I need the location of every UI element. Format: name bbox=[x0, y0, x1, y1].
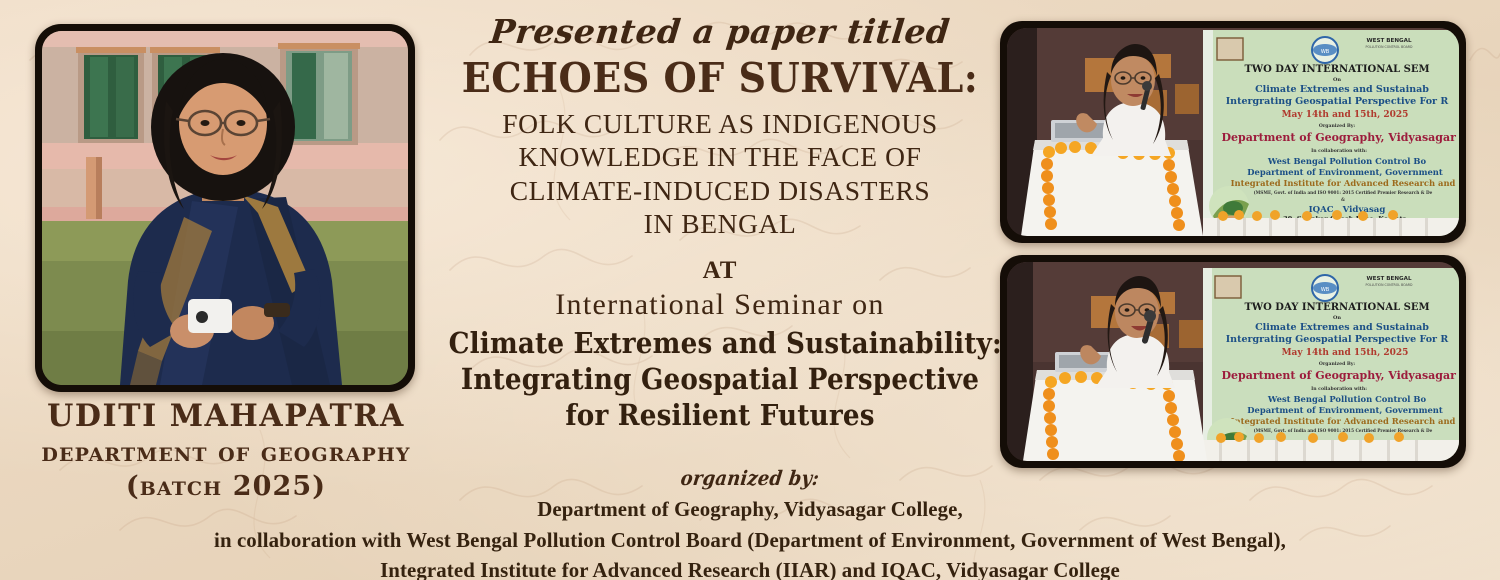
svg-text:WB: WB bbox=[1321, 287, 1330, 293]
organizer-footer: organized by: Department of Geography, V… bbox=[0, 466, 1500, 580]
svg-text:Integrated Institute for Advan: Integrated Institute for Advanced Resear… bbox=[1231, 416, 1456, 426]
podium-photo-bottom: WB WEST BENGAL POLLUTION CONTROL BOARD T… bbox=[1000, 255, 1466, 468]
svg-text:On: On bbox=[1333, 315, 1341, 321]
center-text-column: Presented a paper titled ECHOES OF SURVI… bbox=[425, 14, 1015, 433]
svg-text:Climate Extremes and Sustainab: Climate Extremes and Sustainab bbox=[1255, 322, 1429, 333]
svg-text:West Bengal Pollution Control: West Bengal Pollution Control Bo bbox=[1267, 394, 1427, 404]
svg-text:WEST BENGAL: WEST BENGAL bbox=[1366, 276, 1411, 282]
svg-text:On: On bbox=[1333, 77, 1341, 83]
svg-text:WB: WB bbox=[1321, 49, 1330, 55]
presenter-portrait-photo bbox=[35, 24, 415, 392]
svg-text:Intergrating Geospatial Perspe: Intergrating Geospatial Perspective For … bbox=[1226, 96, 1449, 107]
podium-photo-top: WB WEST BENGAL POLLUTION CONTROL BOARD T… bbox=[1000, 21, 1466, 243]
svg-text:WEST BENGAL: WEST BENGAL bbox=[1366, 38, 1411, 44]
svg-text:Integrated Institute for Advan: Integrated Institute for Advanced Resear… bbox=[1231, 178, 1456, 188]
svg-text:Department of Environment, Gov: Department of Environment, Government bbox=[1247, 405, 1443, 415]
svg-text:In collaboration with:: In collaboration with: bbox=[1311, 386, 1367, 392]
organizer-line-3: Integrated Institute for Advanced Resear… bbox=[23, 555, 1478, 580]
podium-bottom-image: WB WEST BENGAL POLLUTION CONTROL BOARD T… bbox=[1007, 262, 1459, 461]
svg-text:Department of Geography, Vidya: Department of Geography, Vidyasagar C bbox=[1222, 369, 1459, 382]
svg-text:Department of Geography, Vidya: Department of Geography, Vidyasagar C bbox=[1222, 131, 1459, 144]
event-name-line-2: Integrating Geospatial Perspective bbox=[449, 362, 992, 398]
organized-by-label: organized by: bbox=[74, 466, 1427, 490]
svg-text:May 14th and 15th, 2025: May 14th and 15th, 2025 bbox=[1282, 348, 1409, 358]
svg-text:Organized By:: Organized By: bbox=[1319, 361, 1356, 367]
svg-text:POLLUTION CONTROL BOARD: POLLUTION CONTROL BOARD bbox=[1366, 45, 1414, 49]
portrait-image bbox=[42, 31, 408, 385]
svg-text:Climate Extremes and Sustainab: Climate Extremes and Sustainab bbox=[1255, 84, 1429, 95]
event-type-label: International Seminar on bbox=[425, 287, 1015, 323]
paper-subtitle-line-1: FOLK CULTURE AS INDIGENOUS bbox=[425, 107, 1015, 141]
svg-text:IQAC , Vidyasag: IQAC , Vidyasag bbox=[1309, 205, 1386, 215]
svg-text:May 14th and 15th, 2025: May 14th and 15th, 2025 bbox=[1282, 110, 1409, 120]
poster-canvas: Presented a paper titled ECHOES OF SURVI… bbox=[0, 0, 1500, 580]
svg-text:(MSME, Govt. of India and ISO: (MSME, Govt. of India and ISO 9001: 2015… bbox=[1254, 190, 1433, 195]
presenter-department: Department of Geography bbox=[12, 437, 440, 468]
svg-text:West Bengal Pollution Control: West Bengal Pollution Control Bo bbox=[1267, 156, 1427, 166]
paper-subtitle-line-3: CLIMATE-INDUCED DISASTERS bbox=[425, 174, 1015, 208]
presented-label: Presented a paper titled bbox=[423, 14, 1017, 50]
organizer-line-2: in collaboration with West Bengal Pollut… bbox=[23, 525, 1478, 556]
svg-text:&: & bbox=[1341, 197, 1345, 202]
svg-text:POLLUTION CONTROL BOARD: POLLUTION CONTROL BOARD bbox=[1366, 283, 1414, 287]
svg-text:Intergrating Geospatial Perspe: Intergrating Geospatial Perspective For … bbox=[1226, 334, 1449, 345]
svg-text:Organized By:: Organized By: bbox=[1319, 123, 1356, 129]
paper-subtitle-line-2: KNOWLEDGE IN THE FACE OF bbox=[425, 140, 1015, 174]
svg-text:In collaboration with:: In collaboration with: bbox=[1311, 148, 1367, 154]
event-name-line-1: Climate Extremes and Sustainability: bbox=[449, 326, 992, 362]
svg-text:Department of Environment, Gov: Department of Environment, Government bbox=[1247, 167, 1443, 177]
svg-text:TWO DAY INTERNATIONAL SEM: TWO DAY INTERNATIONAL SEM bbox=[1244, 64, 1429, 75]
svg-text:TWO DAY INTERNATIONAL SEM: TWO DAY INTERNATIONAL SEM bbox=[1244, 302, 1429, 313]
podium-top-image: WB WEST BENGAL POLLUTION CONTROL BOARD T… bbox=[1007, 28, 1459, 236]
page-title: ECHOES OF SURVIVAL: bbox=[446, 56, 995, 100]
at-label: AT bbox=[425, 257, 1015, 285]
presenter-name: UDITI MAHAPATRA bbox=[18, 398, 433, 434]
organizer-line-1: Department of Geography, Vidyasagar Coll… bbox=[23, 494, 1478, 525]
event-name-line-3: for Resilient Futures bbox=[449, 398, 992, 434]
paper-subtitle-line-4: IN BENGAL bbox=[425, 207, 1015, 241]
